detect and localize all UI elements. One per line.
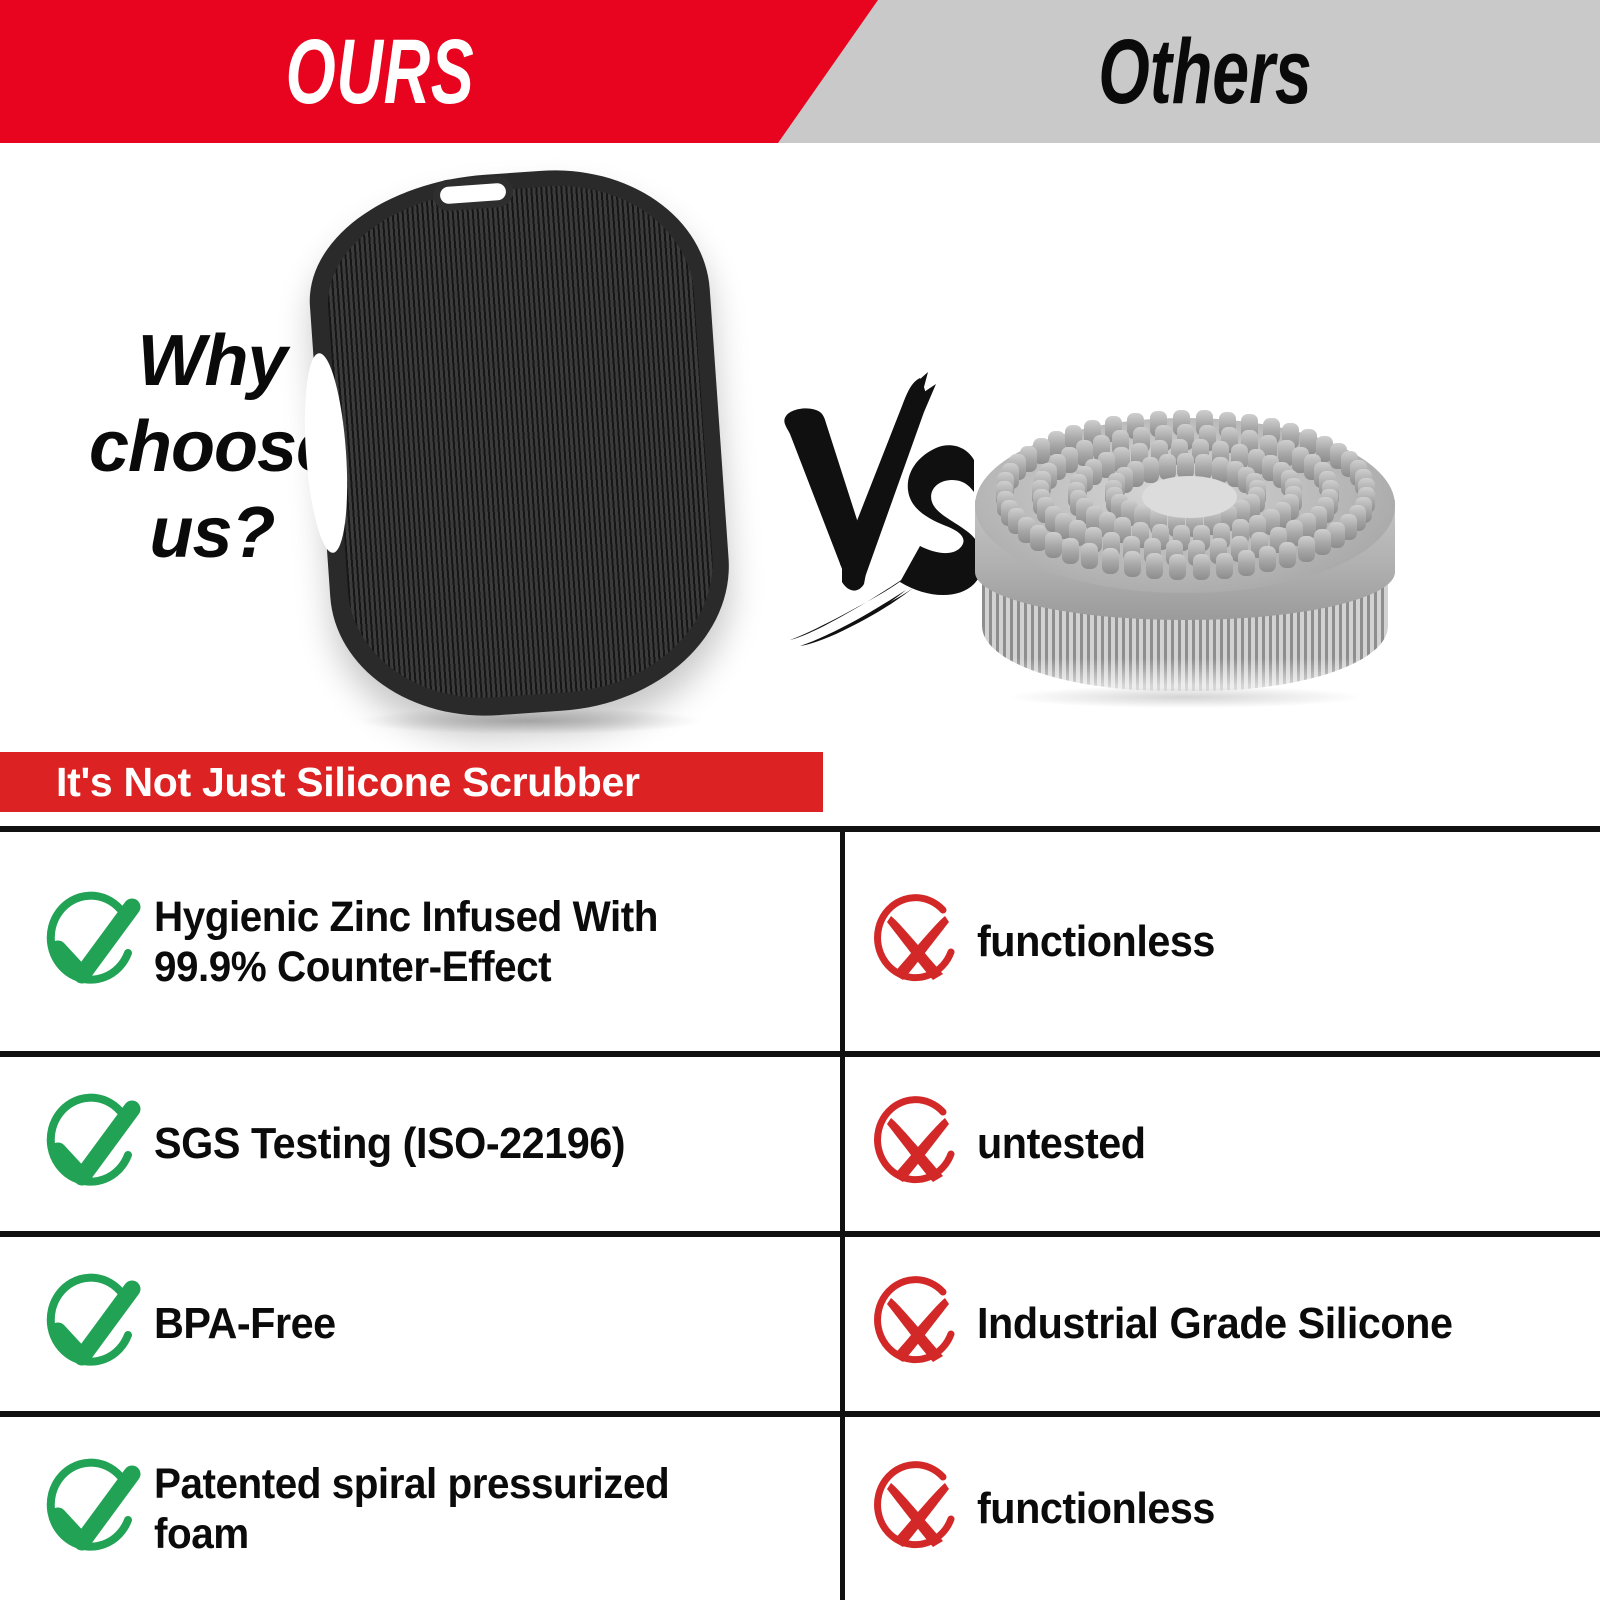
hero-section: Why choose us?	[0, 143, 1600, 748]
header-banner: OURS Others	[0, 0, 1600, 143]
others-product-image	[960, 418, 1410, 718]
table-cell-others: Industrial Grade Silicone	[840, 1237, 1600, 1411]
table-row: BPA-Free Industrial Grade Silicone	[0, 1231, 1600, 1411]
cross-circle-icon	[867, 1272, 967, 1376]
table-cell-ours-label: Patented spiral pressurized foam	[154, 1459, 756, 1559]
table-cell-others-label: Industrial Grade Silicone	[977, 1298, 1453, 1350]
table-row: Patented spiral pressurized foam functio…	[0, 1411, 1600, 1600]
check-circle-icon	[36, 1454, 144, 1564]
header-ours-label: OURS	[114, 10, 646, 134]
table-cell-others: untested	[840, 1057, 1600, 1231]
cross-circle-icon	[867, 1457, 967, 1561]
cross-circle-icon	[867, 1092, 967, 1196]
check-circle-icon	[36, 1089, 144, 1199]
table-cell-others-label: functionless	[977, 1483, 1215, 1535]
table-cell-others-label: untested	[977, 1118, 1146, 1170]
table-row: SGS Testing (ISO-22196) untested	[0, 1051, 1600, 1231]
ours-product-image	[300, 163, 760, 733]
table-cell-ours: Patented spiral pressurized foam	[0, 1417, 840, 1600]
table-cell-ours-label: BPA-Free	[154, 1298, 336, 1350]
silicone-pad-bristle-texture	[321, 177, 721, 707]
round-brush-center-hub	[1142, 476, 1237, 518]
table-cell-ours-label: SGS Testing (ISO-22196)	[154, 1118, 625, 1170]
table-cell-others: functionless	[840, 1417, 1600, 1600]
sub-banner: It's Not Just Silicone Scrubber	[0, 752, 823, 812]
check-circle-icon	[36, 1269, 144, 1379]
header-others-label: Others	[989, 10, 1421, 134]
table-cell-ours-label: Hygienic Zinc Infused With 99.9% Counter…	[154, 892, 756, 992]
table-row: Hygienic Zinc Infused With 99.9% Counter…	[0, 826, 1600, 1051]
table-cell-ours: Hygienic Zinc Infused With 99.9% Counter…	[0, 832, 840, 1051]
comparison-table: Hygienic Zinc Infused With 99.9% Counter…	[0, 826, 1600, 1600]
versus-icon	[760, 368, 990, 658]
check-circle-icon	[36, 887, 144, 997]
table-cell-ours: SGS Testing (ISO-22196)	[0, 1057, 840, 1231]
silicone-pad-body	[302, 160, 739, 727]
table-cell-others: functionless	[840, 832, 1600, 1051]
table-cell-others-label: functionless	[977, 916, 1215, 968]
cross-circle-icon	[867, 890, 967, 994]
sub-banner-text: It's Not Just Silicone Scrubber	[0, 752, 640, 812]
table-cell-ours: BPA-Free	[0, 1237, 840, 1411]
round-brush-nubs	[960, 418, 1410, 718]
